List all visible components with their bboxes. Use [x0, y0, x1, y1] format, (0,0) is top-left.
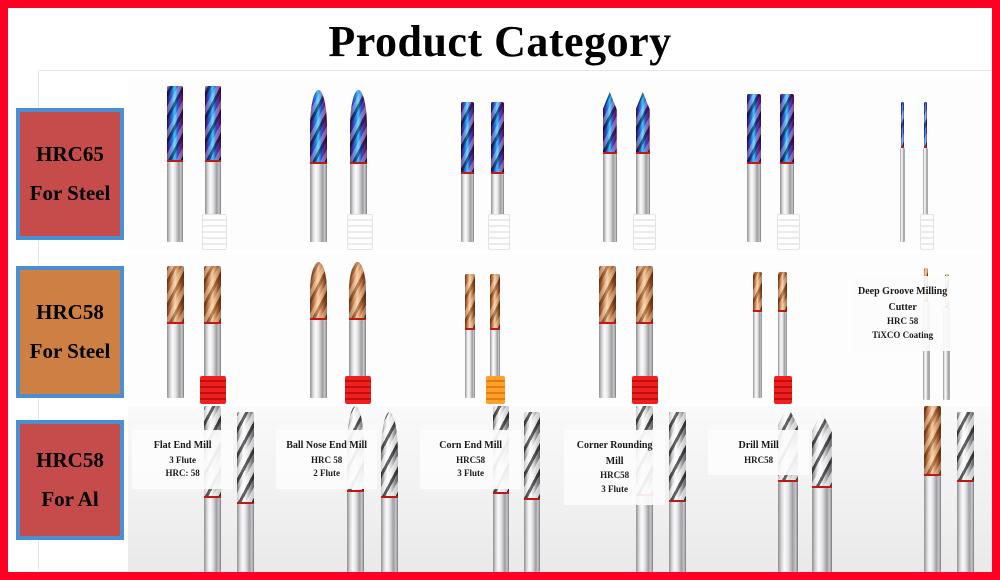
cutting-tool [490, 274, 500, 378]
tool-flutes [167, 86, 183, 162]
caption-l2: 3 Flute [138, 454, 227, 468]
tool-shank [347, 492, 364, 572]
tool-coating-band [347, 490, 364, 492]
tool-coating-band [310, 162, 327, 164]
ball-nose-tip [310, 261, 327, 275]
category-badge-hrc58-steel[interactable]: HRC58 For Steel [16, 266, 124, 398]
tool-flutes [753, 272, 762, 312]
tool-coating-band [491, 172, 504, 174]
poster-canvas: Product Category HRC65 For Steel HRC58 F… [8, 8, 992, 572]
tool-protective-cap [920, 214, 934, 250]
product-photo [560, 254, 704, 404]
tool-shank [778, 312, 787, 378]
caption-l3: TiXCO Coating [858, 329, 947, 343]
tool-coating-band [465, 328, 475, 330]
caption-l3: 3 Flute [426, 467, 515, 481]
product-photo [416, 254, 560, 404]
cutting-tool [669, 412, 686, 572]
cutting-tool [205, 86, 221, 216]
product-cell-flat-end-mill-4-flute-blue[interactable] [128, 78, 272, 250]
cutting-tool [204, 266, 221, 378]
tool-protective-cap [200, 376, 226, 404]
cutting-tool [923, 102, 928, 216]
product-cell-corn-roughing-end-mill-blue[interactable] [416, 78, 560, 250]
tool-flutes [310, 90, 327, 164]
tool-shank [310, 164, 327, 242]
cutting-tool [349, 262, 366, 378]
product-cell-corn-roughing-mill-copper[interactable] [416, 254, 560, 404]
tool-coating-band [381, 496, 398, 498]
product-cell-corn-end-mill-al[interactable]: Corn End MillHRC583 Flute [416, 406, 560, 572]
tool-flutes [205, 86, 221, 162]
tool-flutes [349, 262, 366, 320]
cutting-tool [524, 412, 540, 572]
tool-shank [461, 174, 474, 242]
tool-group [704, 78, 848, 250]
tool-coating-band [636, 322, 653, 324]
caption-l1: Corner Rounding Mill [570, 438, 659, 469]
category-badge-line2: For Steel [30, 181, 111, 206]
caption-l1: Corn End Mill [426, 438, 515, 454]
tool-protective-cap [347, 214, 373, 250]
tool-coating-band [901, 146, 904, 148]
tool-shank [167, 162, 183, 242]
product-cell-ball-nose-end-mill-copper[interactable] [272, 254, 416, 404]
caption-l1: Flat End Mill [138, 438, 227, 454]
tool-flutes [812, 412, 832, 488]
tool-flutes [381, 412, 398, 498]
caption-l2: HRC58 [426, 454, 515, 468]
product-photo [272, 254, 416, 404]
ball-nose-tip [350, 89, 367, 103]
caption-l3: HRC: 58 [138, 467, 227, 481]
cutting-tool [924, 406, 941, 572]
tool-group [416, 78, 560, 250]
tool-coating-band [747, 162, 761, 164]
product-cell-flat-end-mill-4-flute-copper[interactable] [128, 254, 272, 404]
tool-shank [465, 330, 475, 398]
tool-group [560, 254, 704, 404]
cutting-tool [780, 94, 794, 216]
category-badge-line2: For Steel [30, 339, 111, 364]
category-badge-hrc58-al[interactable]: HRC58 For Al [16, 420, 124, 540]
product-row-hrc58-steel: Deep Groove Milling CutterHRC 58TiXCO Co… [128, 254, 992, 404]
tool-coating-band [924, 146, 927, 148]
caption-l1: Ball Nose End Mill [282, 438, 371, 454]
cutting-tool [778, 272, 787, 378]
cutting-tool [636, 266, 653, 378]
product-cell-chamfer-mill-blue[interactable] [560, 78, 704, 250]
tool-flutes [237, 412, 254, 504]
product-cell-ball-nose-end-mill-blue[interactable] [272, 78, 416, 250]
tool-group [272, 254, 416, 404]
caption-l3: 3 Flute [570, 483, 659, 497]
cutting-tool [603, 92, 617, 242]
tool-shank [780, 164, 794, 216]
tool-coating-band [778, 480, 798, 482]
tool-group [704, 254, 848, 404]
category-badge-line1: HRC65 [36, 142, 104, 167]
tool-shank [923, 148, 928, 216]
tool-coating-band [167, 160, 183, 162]
tool-shank [493, 494, 509, 572]
ball-nose-tip [347, 406, 364, 419]
ball-nose-tip [310, 89, 327, 103]
tool-flutes [957, 412, 974, 482]
tool-protective-cap [486, 376, 505, 404]
tool-coating-band [204, 322, 221, 324]
tool-flutes [490, 274, 500, 330]
tool-shank [237, 504, 254, 572]
tool-coating-band [350, 162, 367, 164]
tool-group [848, 78, 992, 250]
product-caption: Flat End Mill3 FluteHRC: 58 [132, 430, 233, 489]
tool-flutes [204, 266, 221, 324]
ball-nose-tip [349, 261, 366, 275]
tool-shank [812, 488, 832, 572]
tool-shank [524, 500, 540, 572]
tool-coating-band [167, 322, 184, 324]
tool-shank [350, 164, 367, 216]
product-photo [128, 254, 272, 404]
tool-coating-band [924, 474, 941, 476]
tool-protective-cap [345, 376, 371, 404]
cutting-tool [461, 102, 474, 242]
cutting-tool [310, 90, 327, 242]
category-badge-hrc65-steel[interactable]: HRC65 For Steel [16, 108, 124, 240]
tool-coating-band [493, 492, 509, 494]
cutting-tool [381, 412, 398, 572]
tool-coating-band [599, 322, 616, 324]
cutting-tool [599, 266, 616, 398]
tool-coating-band [524, 498, 540, 500]
tool-protective-cap [777, 214, 800, 250]
tool-coating-band [205, 160, 221, 162]
category-badge-line1: HRC58 [36, 448, 104, 473]
product-cell-flat-end-mill-3-flute-copper[interactable] [560, 254, 704, 404]
tool-shank [167, 324, 184, 398]
product-caption: Ball Nose End MillHRC 582 Flute [276, 430, 377, 489]
tool-flutes [669, 412, 686, 502]
tool-protective-cap [774, 376, 792, 404]
tool-flutes [924, 406, 941, 476]
tool-protective-cap [632, 376, 658, 404]
product-row-hrc58-al: Flat End Mill3 FluteHRC: 58Ball Nose End… [128, 406, 992, 572]
cutting-tool [747, 94, 761, 242]
tool-coating-band [669, 500, 686, 502]
category-badge-line2: For Al [41, 487, 98, 512]
tool-flutes [350, 90, 367, 164]
cutting-tool [465, 274, 475, 398]
tool-protective-cap [202, 214, 227, 250]
tool-coating-band [778, 310, 787, 312]
tool-shank [957, 482, 974, 572]
tool-flutes [636, 266, 653, 324]
tool-flutes [599, 266, 616, 324]
tool-shank [310, 320, 327, 398]
tool-shank [204, 498, 221, 572]
tool-flutes [603, 92, 617, 154]
tool-shank [490, 330, 500, 378]
caption-l1: Deep Groove Milling Cutter [858, 284, 947, 315]
tool-flutes [747, 94, 761, 164]
tool-shank [753, 312, 762, 398]
tool-flutes [780, 94, 794, 164]
tool-protective-cap [633, 214, 656, 250]
product-photo [848, 406, 992, 572]
product-photo [704, 78, 848, 250]
tool-coating-band [957, 480, 974, 482]
product-photo [560, 78, 704, 250]
caption-l2: HRC58 [714, 454, 803, 468]
tool-coating-band [490, 328, 500, 330]
product-caption: Corn End MillHRC583 Flute [420, 430, 521, 489]
product-photo [848, 78, 992, 250]
caption-l3: 2 Flute [282, 467, 371, 481]
tool-flutes [310, 262, 327, 320]
tool-shank [205, 162, 221, 216]
product-row-hrc65-steel [128, 78, 992, 250]
tool-flutes [778, 272, 787, 312]
tool-shank [636, 496, 653, 572]
product-cell-corner-rounding-mill-al[interactable]: Corner Rounding MillHRC583 Flute [560, 406, 704, 572]
cutting-tool [812, 412, 832, 572]
tool-shank [599, 324, 616, 398]
tool-coating-band [753, 310, 762, 312]
caption-l2: HRC 58 [858, 315, 947, 329]
tool-shank [900, 148, 905, 242]
tool-coating-band [603, 152, 617, 154]
tool-coating-band [780, 162, 794, 164]
tool-group [560, 78, 704, 250]
cutting-tool [237, 412, 254, 572]
product-photo [704, 254, 848, 404]
caption-l2: HRC 58 [282, 454, 371, 468]
tool-coating-band [349, 318, 366, 320]
tool-shank [349, 320, 366, 378]
tool-coating-band [310, 318, 327, 320]
tool-coating-band [636, 152, 650, 154]
tool-coating-band [812, 486, 832, 488]
tool-group [848, 406, 992, 572]
tool-shank [381, 498, 398, 572]
tool-shank [603, 154, 617, 242]
tool-flutes [465, 274, 475, 330]
tool-shank [669, 502, 686, 572]
tool-shank [491, 174, 504, 216]
tool-flutes [461, 102, 474, 174]
cutting-tool [753, 272, 762, 398]
tool-group [128, 78, 272, 250]
product-cell-flat-end-mill-al[interactable]: Flat End Mill3 FluteHRC: 58 [128, 406, 272, 572]
product-photo [272, 78, 416, 250]
cutting-tool [900, 102, 905, 242]
product-photo [128, 78, 272, 250]
ball-nose-tip [381, 411, 398, 425]
cutting-tool [310, 262, 327, 398]
tool-coating-band [204, 496, 221, 498]
cutting-tool [491, 102, 504, 216]
product-cell-flat-end-mill-2-flute-blue[interactable] [704, 78, 848, 250]
product-cell-ball-nose-end-mill-al[interactable]: Ball Nose End MillHRC 582 Flute [272, 406, 416, 572]
tool-group [128, 254, 272, 404]
product-cell-micro-end-mill-blue[interactable] [848, 78, 992, 250]
category-badge-line1: HRC58 [36, 300, 104, 325]
page-title: Product Category [8, 16, 992, 67]
tool-shank [636, 324, 653, 378]
product-cell-micro-end-mill-copper[interactable] [704, 254, 848, 404]
tool-coating-band [237, 502, 254, 504]
tool-group [416, 254, 560, 404]
tool-flutes [636, 92, 650, 154]
cutting-tool [636, 92, 650, 216]
tool-shank [204, 324, 221, 378]
tool-protective-cap [488, 214, 510, 250]
product-caption: Corner Rounding MillHRC583 Flute [564, 430, 665, 505]
tool-coating-band [461, 172, 474, 174]
product-cell-drill-mill-al[interactable]: Drill MillHRC58 [704, 406, 848, 572]
cutting-tool [957, 412, 974, 572]
tool-flutes [167, 266, 184, 324]
tool-flutes [524, 412, 540, 500]
tool-shank [636, 154, 650, 216]
product-photo [416, 78, 560, 250]
tool-shank [778, 482, 798, 572]
tool-group [272, 78, 416, 250]
cutting-tool [167, 266, 184, 398]
tool-shank [747, 164, 761, 242]
product-cell-deep-groove-milling-cutter[interactable]: Deep Groove Milling CutterHRC 58TiXCO Co… [848, 254, 992, 404]
cutting-tool [167, 86, 183, 242]
cutting-tool [350, 90, 367, 216]
tool-shank [924, 476, 941, 572]
caption-l2: HRC58 [570, 469, 659, 483]
product-caption: Drill MillHRC58 [708, 430, 809, 475]
tool-flutes [901, 102, 904, 148]
caption-l1: Drill Mill [714, 438, 803, 454]
tool-flutes [491, 102, 504, 174]
product-cell-thread-mill-al[interactable] [848, 406, 992, 572]
product-caption: Deep Groove Milling CutterHRC 58TiXCO Co… [852, 276, 953, 351]
tool-flutes [924, 102, 927, 148]
